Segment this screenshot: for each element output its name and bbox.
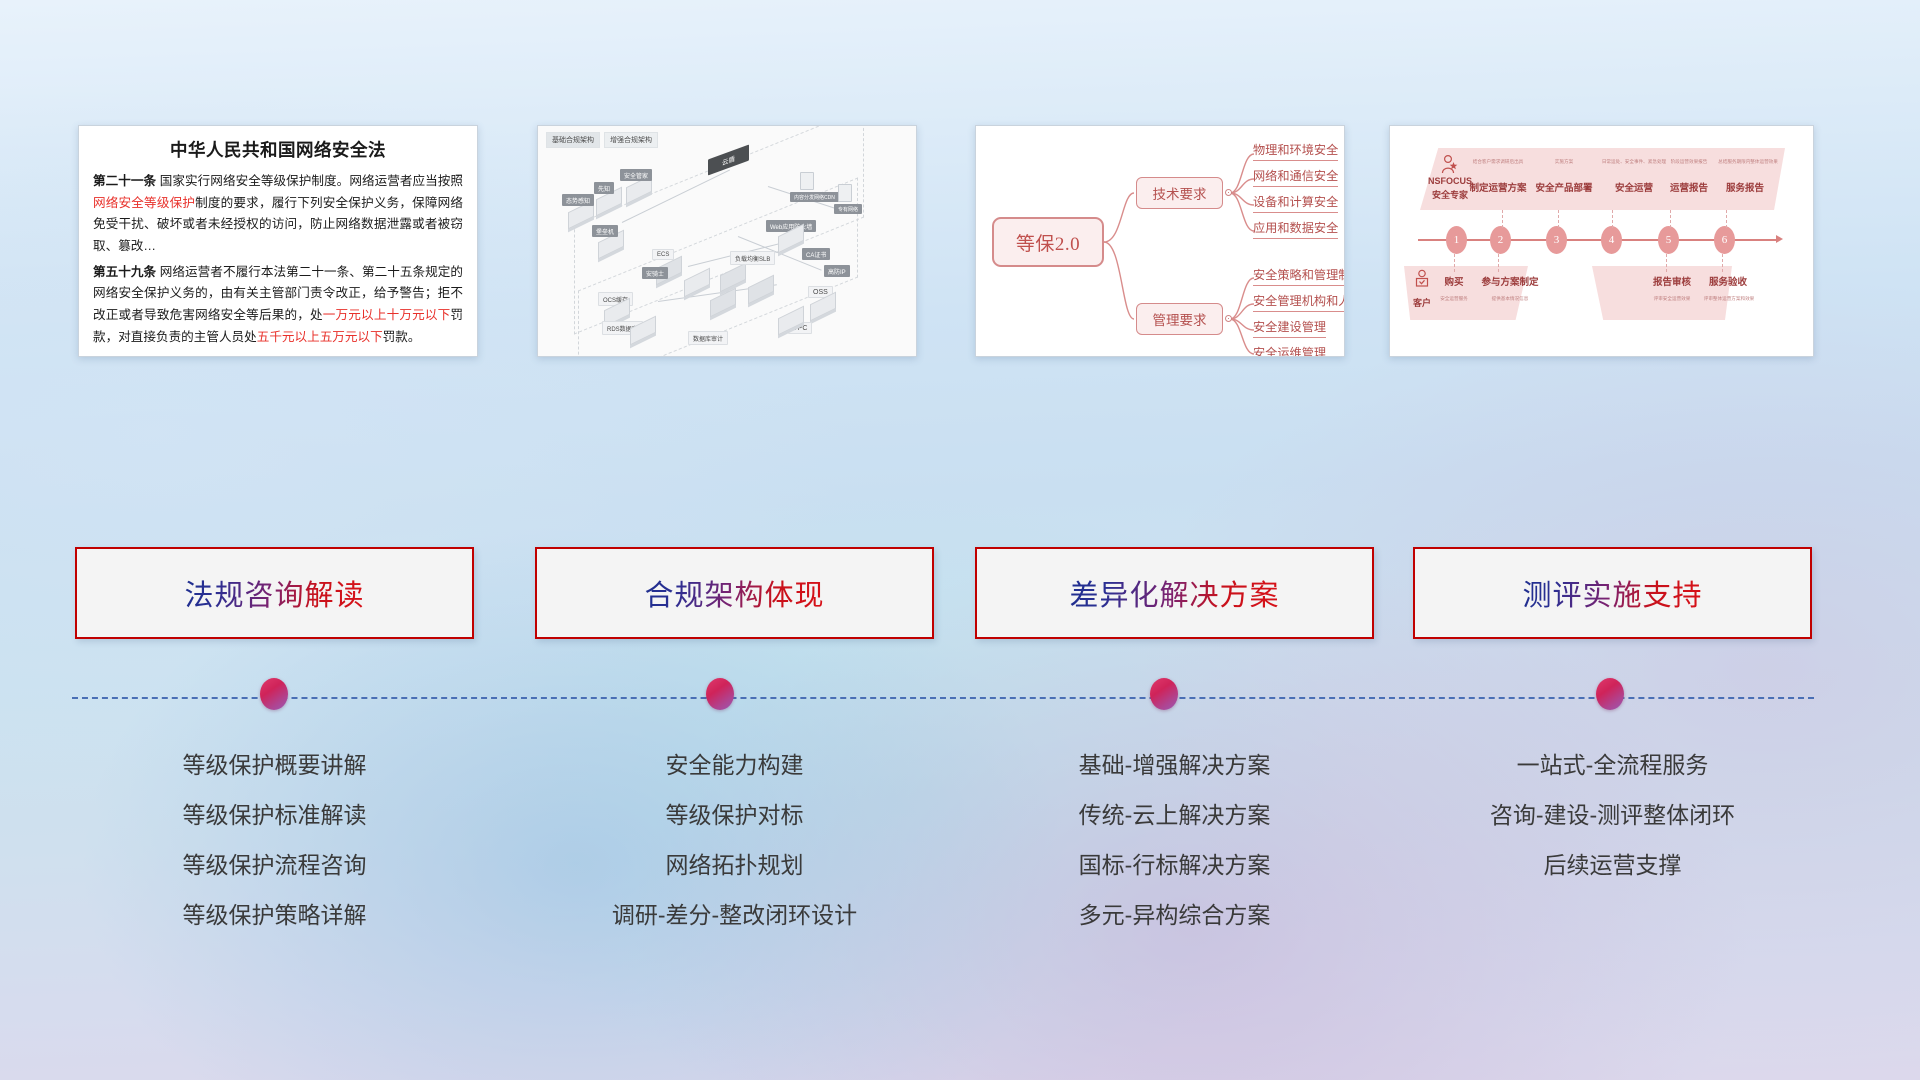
roadmap-bottom-label-1: 购买 bbox=[1434, 274, 1474, 288]
roadmap-connector-3 bbox=[1558, 210, 1559, 228]
timeline-dot-3[interactable] bbox=[1150, 678, 1178, 710]
list-item: 等级保护流程咨询 bbox=[75, 840, 474, 890]
arch-node-prophet: 先知 bbox=[594, 182, 614, 194]
customer-icon bbox=[1414, 269, 1430, 291]
roadmap-connector-5u bbox=[1670, 210, 1671, 228]
list-item: 等级保护对标 bbox=[535, 790, 934, 840]
mindmap-leaf-security-org: 安全管理机构和人员 bbox=[1253, 291, 1345, 312]
list-item: 网络拓扑规划 bbox=[535, 840, 934, 890]
arch-node-ca-cert: CA证书 bbox=[802, 248, 830, 260]
roadmap-top-label-5: 服务报告 bbox=[1704, 180, 1786, 194]
roadmap-bottom-sub-2: 提供基本情况信息 bbox=[1476, 296, 1544, 302]
law-paragraph-21: 第二十一条 国家实行网络安全等级保护制度。网络运营者应当按照网络安全等级保护制度… bbox=[93, 171, 463, 258]
tab-enhanced-architecture[interactable]: 增强合规架构 bbox=[604, 132, 658, 148]
arch-node-bastion-host: 堡垒机 bbox=[592, 225, 618, 237]
arch-node-db-audit: 数据库审计 bbox=[688, 331, 728, 345]
arch-node-security-steward: 安全管家 bbox=[620, 169, 652, 181]
roadmap-connector-4 bbox=[1612, 210, 1613, 228]
roadmap-connector-2u bbox=[1502, 210, 1503, 228]
list-item: 等级保护标准解读 bbox=[75, 790, 474, 840]
law-article-59-text-c: 罚款。 bbox=[383, 330, 421, 344]
arch-node-anqishi: 安骑士 bbox=[642, 267, 668, 279]
mindmap-collapse-dot-management[interactable] bbox=[1225, 315, 1232, 322]
timeline-dot-1[interactable] bbox=[260, 678, 288, 710]
title-box-label-2: 合规架构体现 bbox=[644, 572, 824, 614]
list-item: 咨询-建设-测评整体闭环 bbox=[1413, 790, 1812, 840]
card-compliance-architecture[interactable]: 基础合规架构 增强合规架构 云盾 态势感知 先知 安全管家 堡垒机 bbox=[537, 125, 917, 357]
list-item: 国标-行标解决方案 bbox=[975, 840, 1374, 890]
arch-device-pc bbox=[838, 184, 852, 202]
roadmap-bottom-label-4: 服务验收 bbox=[1700, 274, 1756, 288]
mindmap-leaf-security-policy: 安全策略和管理制度 bbox=[1253, 265, 1345, 286]
timeline-dashed-line bbox=[72, 697, 1814, 699]
roadmap-axis-arrow bbox=[1776, 235, 1783, 243]
list-item: 调研-差分-整改闭环设计 bbox=[535, 890, 934, 940]
roadmap-step-3[interactable]: 3 bbox=[1546, 226, 1567, 254]
title-box-differentiated-solution[interactable]: 差异化解决方案 bbox=[975, 547, 1374, 639]
roadmap-step-2[interactable]: 2 bbox=[1490, 226, 1511, 254]
law-paragraph-59: 第五十九条 网络运营者不履行本法第二十一条、第二十五条规定的网络安全保护义务的，… bbox=[93, 262, 463, 349]
timeline-dot-2[interactable] bbox=[706, 678, 734, 710]
card-cybersecurity-law[interactable]: 中华人民共和国网络安全法 第二十一条 国家实行网络安全等级保护制度。网络运营者应… bbox=[78, 125, 478, 357]
roadmap-bottom-label-2: 参与方案制定 bbox=[1474, 274, 1546, 288]
law-document: 中华人民共和国网络安全法 第二十一条 国家实行网络安全等级保护制度。网络运营者应… bbox=[79, 126, 477, 348]
detail-list-compliance-architecture: 安全能力构建 等级保护对标 网络拓扑规划 调研-差分-整改闭环设计 bbox=[535, 740, 934, 940]
timeline-dot-4[interactable] bbox=[1596, 678, 1624, 710]
arch-node-situational-awareness: 态势感知 bbox=[562, 194, 594, 206]
roadmap-step-1[interactable]: 1 bbox=[1446, 226, 1467, 254]
timeline bbox=[0, 690, 1920, 730]
preview-cards-row: 中华人民共和国网络安全法 第二十一条 国家实行网络安全等级保护制度。网络运营者应… bbox=[0, 125, 1920, 360]
mindmap-leaf-device-security: 设备和计算安全 bbox=[1253, 192, 1338, 213]
architecture-diagram: 基础合规架构 增强合规架构 云盾 态势感知 先知 安全管家 堡垒机 bbox=[538, 126, 916, 356]
card-nsfocus-roadmap[interactable]: NSFOCUS 安全专家 客户 结合客户需求调研后出具 制定运营方案 实施方案 … bbox=[1389, 125, 1814, 357]
law-article-21-label: 第二十一条 bbox=[93, 174, 156, 188]
list-item: 传统-云上解决方案 bbox=[975, 790, 1374, 840]
architecture-tabs[interactable]: 基础合规架构 增强合规架构 bbox=[546, 132, 658, 148]
roadmap-connector-1 bbox=[1454, 254, 1455, 272]
mindmap-leaf-physical-security: 物理和环境安全 bbox=[1253, 140, 1338, 161]
roadmap-bottom-sub-1: 安全运营服务 bbox=[1428, 296, 1480, 302]
card-mindmap-dengbao[interactable]: 等保2.0 技术要求 物理和环境安全 网络和通信安全 设备和计算安全 应用和数据… bbox=[975, 125, 1345, 357]
roadmap-top-sub-5: 总结服务期限内整体运营效果 bbox=[1700, 159, 1796, 165]
roadmap-step-4[interactable]: 4 bbox=[1601, 226, 1622, 254]
tab-basic-architecture[interactable]: 基础合规架构 bbox=[546, 132, 600, 148]
list-item: 多元-异构综合方案 bbox=[975, 890, 1374, 940]
arch-node-slb: 负载均衡SLB bbox=[730, 251, 775, 265]
arch-node-ecs: ECS bbox=[652, 249, 674, 260]
title-box-compliance-architecture[interactable]: 合规架构体现 bbox=[535, 547, 934, 639]
roadmap-connector-6u bbox=[1726, 210, 1727, 228]
list-item: 一站式-全流程服务 bbox=[1413, 740, 1812, 790]
roadmap-step-5[interactable]: 5 bbox=[1658, 226, 1679, 254]
detail-list-assessment-support: 一站式-全流程服务 咨询-建设-测评整体闭环 后续运营支撑 bbox=[1413, 740, 1812, 890]
section-title-boxes: 法规咨询解读 合规架构体现 差异化解决方案 测评实施支持 bbox=[0, 547, 1920, 639]
mindmap-leaf-operation-mgmt: 安全运维管理 bbox=[1253, 343, 1326, 357]
arch-node-anti-ddos-ip: 高防IP bbox=[824, 265, 850, 277]
arch-node-vpn: 专有网络 bbox=[834, 204, 862, 214]
roadmap-bottom-sub-4: 评审整体运营方案和效果 bbox=[1692, 296, 1766, 302]
list-item: 等级保护概要讲解 bbox=[75, 740, 474, 790]
mindmap-root-node[interactable]: 等保2.0 bbox=[992, 217, 1104, 267]
list-item: 安全能力构建 bbox=[535, 740, 934, 790]
mindmap-leaf-construction-mgmt: 安全建设管理 bbox=[1253, 317, 1326, 338]
law-article-59-highlight-1: 一万元以上十万元以下 bbox=[323, 308, 451, 322]
roadmap-step-6[interactable]: 6 bbox=[1714, 226, 1735, 254]
title-box-label-4: 测评实施支持 bbox=[1522, 572, 1702, 614]
detail-list-differentiated-solution: 基础-增强解决方案 传统-云上解决方案 国标-行标解决方案 多元-异构综合方案 bbox=[975, 740, 1374, 940]
roadmap-connector-2d bbox=[1498, 254, 1499, 272]
mindmap-collapse-dot-technical[interactable] bbox=[1225, 189, 1232, 196]
mindmap-diagram: 等保2.0 技术要求 物理和环境安全 网络和通信安全 设备和计算安全 应用和数据… bbox=[976, 126, 1344, 356]
list-item: 基础-增强解决方案 bbox=[975, 740, 1374, 790]
arch-node-cdn: 内容分发网络CDN bbox=[790, 192, 839, 202]
roadmap-bottom-label-3: 报告审核 bbox=[1644, 274, 1700, 288]
law-article-59-highlight-2: 五千元以上五万元以下 bbox=[257, 330, 383, 344]
title-box-regulation-consulting[interactable]: 法规咨询解读 bbox=[75, 547, 474, 639]
mindmap-leaf-network-security: 网络和通信安全 bbox=[1253, 166, 1338, 187]
list-item: 后续运营支撑 bbox=[1413, 840, 1812, 890]
title-box-label-3: 差异化解决方案 bbox=[1069, 572, 1279, 614]
list-item: 等级保护策略详解 bbox=[75, 890, 474, 940]
law-title: 中华人民共和国网络安全法 bbox=[93, 137, 463, 162]
title-box-assessment-support[interactable]: 测评实施支持 bbox=[1413, 547, 1812, 639]
mindmap-leaf-application-security: 应用和数据安全 bbox=[1253, 218, 1338, 239]
roadmap-diagram: NSFOCUS 安全专家 客户 结合客户需求调研后出具 制定运营方案 实施方案 … bbox=[1390, 126, 1813, 356]
arch-device-mobile bbox=[800, 172, 814, 190]
roadmap-connector-6d bbox=[1722, 254, 1723, 272]
title-box-label-1: 法规咨询解读 bbox=[184, 572, 364, 614]
mindmap-branch-technical[interactable]: 技术要求 bbox=[1136, 177, 1223, 209]
mindmap-branch-management[interactable]: 管理要求 bbox=[1136, 303, 1223, 335]
roadmap-connector-5d bbox=[1666, 254, 1667, 272]
law-article-59-label: 第五十九条 bbox=[93, 265, 156, 279]
detail-list-regulation-consulting: 等级保护概要讲解 等级保护标准解读 等级保护流程咨询 等级保护策略详解 bbox=[75, 740, 474, 940]
law-article-21-highlight: 网络安全等级保护 bbox=[93, 196, 195, 210]
law-article-21-text-a: 国家实行网络安全等级保护制度。网络运营者应当按照 bbox=[160, 174, 463, 188]
